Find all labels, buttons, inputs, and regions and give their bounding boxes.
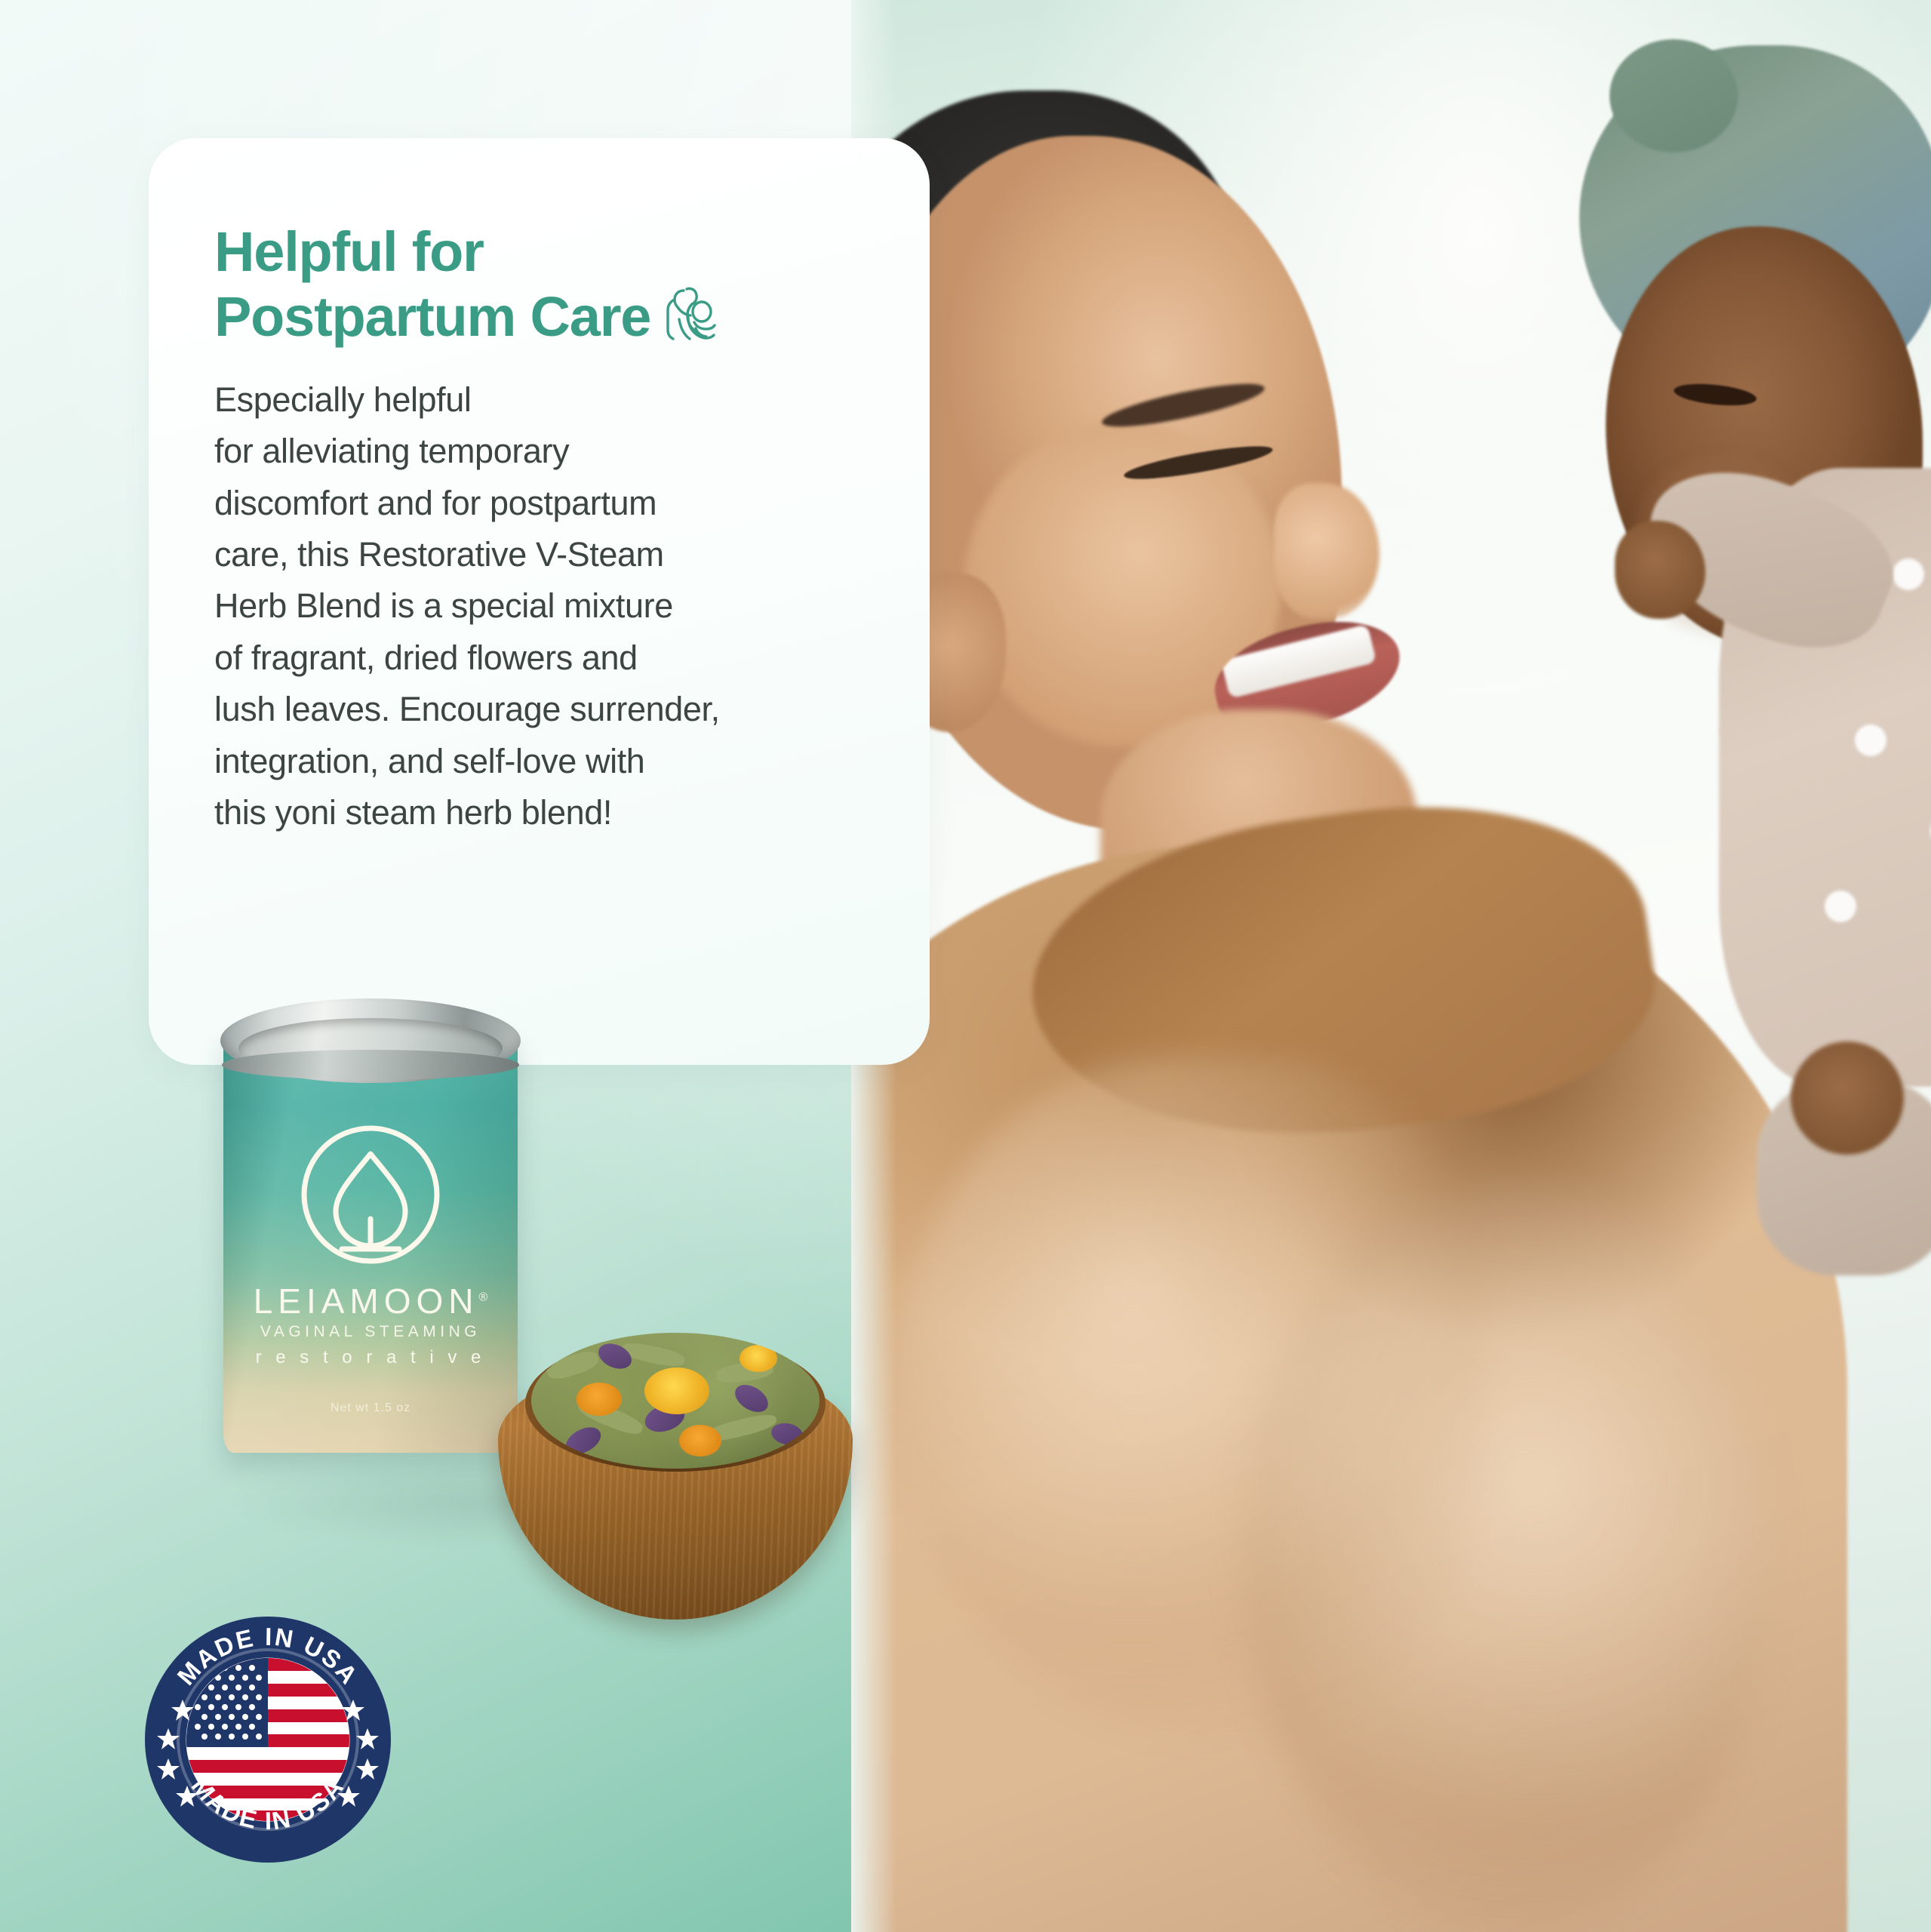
tin-variant: r e s t o r a t i v e [223,1347,518,1368]
tin-lip [222,1050,519,1080]
calendula-flower [644,1367,709,1414]
outfit-dot [1893,558,1924,590]
tin-brand-name: LEIAMOON® [223,1281,518,1321]
tin-net-weight: Net wt 1.5 oz [223,1401,518,1415]
info-card: Helpful for Postpartum Care [149,138,930,1065]
tin-body: LEIAMOON® VAGINAL STEAMING r e s t o r a… [223,1030,518,1453]
tin-subtitle: VAGINAL STEAMING [223,1323,518,1341]
herb-leaf [545,1348,601,1383]
hero-photo-mother-and-baby [851,0,1931,1932]
baby-hand [1615,521,1705,619]
product-tin: LEIAMOON® VAGINAL STEAMING r e s t o r a… [223,991,518,1474]
calendula-flower [577,1383,622,1416]
outfit-dot [1825,891,1856,922]
headline-line-1: Helpful for [214,220,484,283]
body-copy: Especially helpful for alleviating tempo… [214,374,884,839]
registered-mark: ® [479,1291,488,1304]
calendula-flower [679,1425,721,1457]
baby-hand [1791,1041,1904,1155]
made-in-usa-badge: MADE IN USA MADE IN USA [143,1615,392,1864]
page-title: Helpful for Postpartum Care [214,223,884,347]
headline-line-2: Postpartum Care [214,285,650,348]
mother-and-baby-icon [661,281,718,346]
dried-herb-blend [531,1333,819,1469]
purple-petal [730,1380,773,1418]
herb-bowl [498,1328,853,1623]
outfit-dot [1855,724,1886,756]
coat-fold [1244,1177,1772,1932]
calendula-flower [739,1345,777,1372]
droplet-in-circle-logo [295,1119,446,1270]
baby-turban-knot [1610,39,1738,152]
